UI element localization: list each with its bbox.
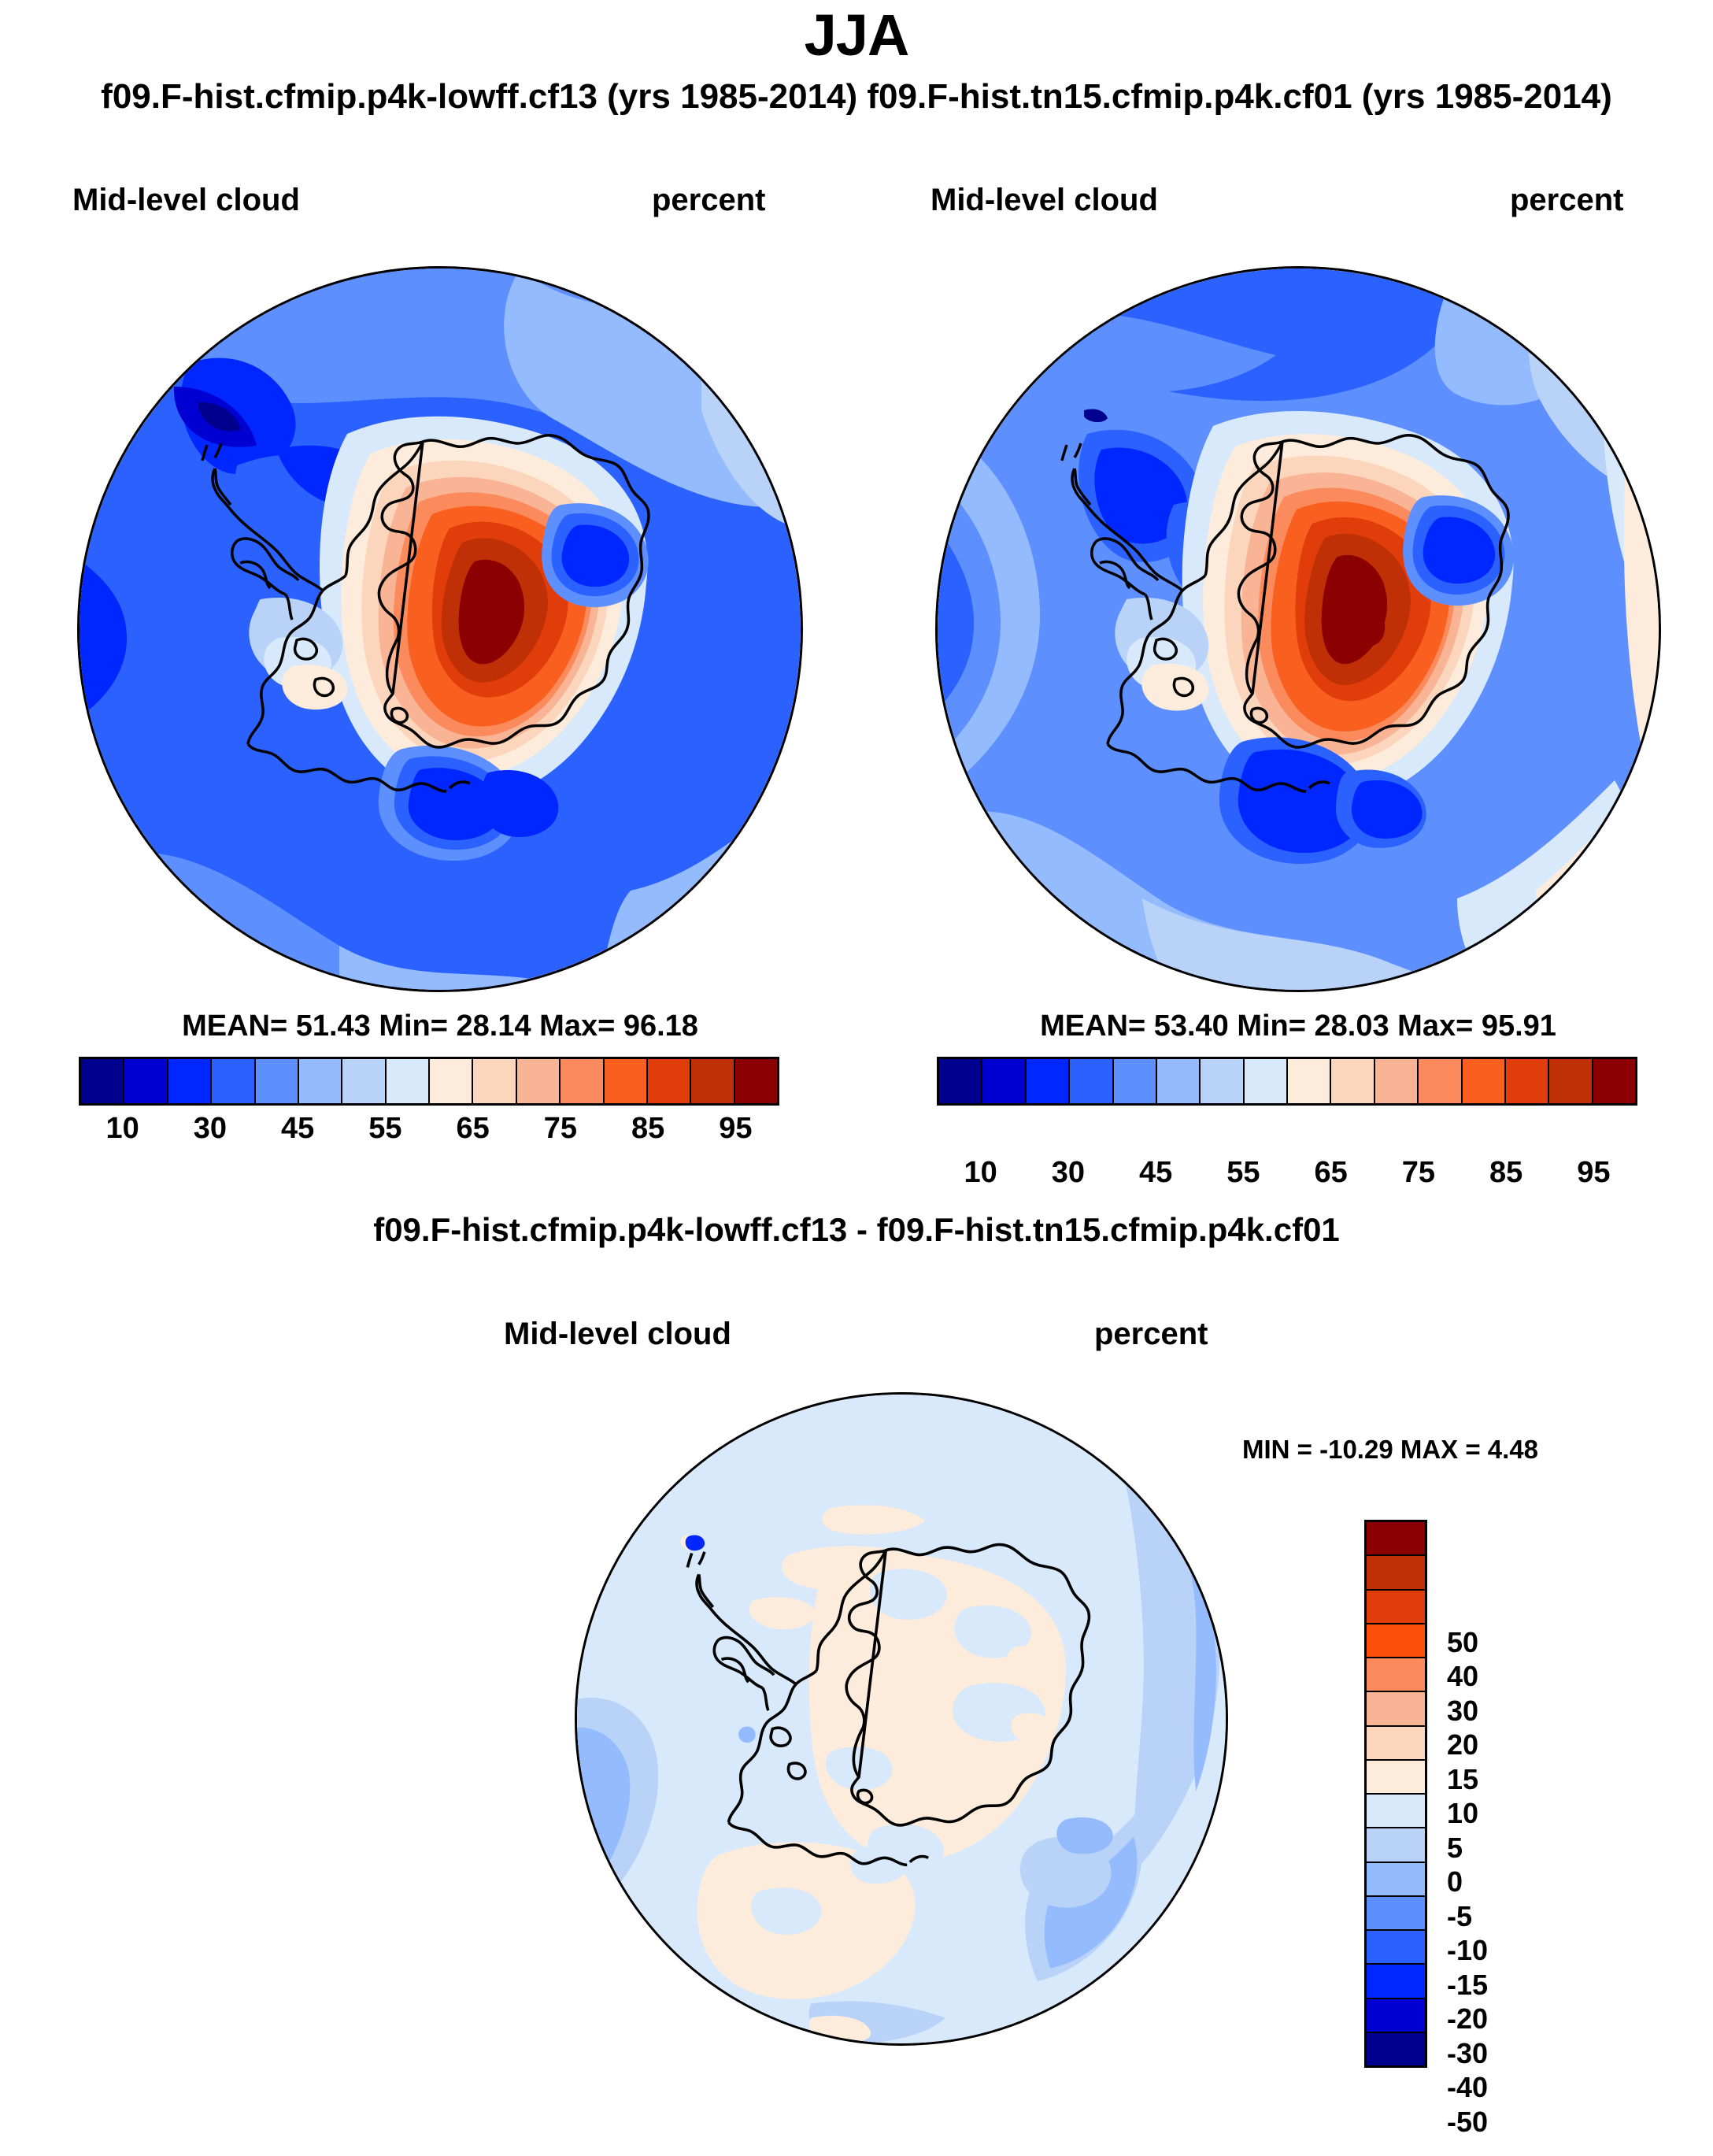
colorbar-tick-label: -5	[1447, 1900, 1472, 1933]
colorbar-cell	[1419, 1059, 1462, 1103]
colorbar-cell	[1506, 1059, 1549, 1103]
colorbar-cell	[1367, 1522, 1425, 1556]
colorbar-tick-label: 65	[1314, 1156, 1347, 1190]
colorbar-cell	[1157, 1059, 1201, 1103]
colorbar-tick-label: 10	[1447, 1797, 1478, 1830]
colorbar-cell	[1463, 1059, 1506, 1103]
colorbar-tick-label: 30	[194, 1112, 227, 1146]
colorbar-cell	[1288, 1059, 1331, 1103]
colorbar-cell	[81, 1059, 124, 1103]
colorbar-cell	[342, 1059, 386, 1103]
colorbar-tick-label: 55	[368, 1112, 401, 1146]
colorbar-cell	[168, 1059, 212, 1103]
colorbar-cell	[1367, 2033, 1425, 2065]
right-panel-stats: MEAN= 53.40 Min= 28.03 Max= 95.91	[935, 1009, 1661, 1043]
colorbar-tick-label: 30	[1447, 1695, 1478, 1728]
colorbar-cell	[1201, 1059, 1244, 1103]
colorbar-cell	[982, 1059, 1026, 1103]
colorbar-tick-label: 20	[1447, 1728, 1478, 1761]
colorbar-tick-label: -10	[1447, 1934, 1488, 1967]
left-panel-stats: MEAN= 51.43 Min= 28.14 Max= 96.18	[77, 1009, 803, 1043]
right-panel-map	[935, 266, 1661, 992]
colorbar-cell	[256, 1059, 299, 1103]
colorbar-tick-label: 30	[1052, 1156, 1085, 1190]
colorbar-cell	[1367, 1727, 1425, 1761]
colorbar-cell	[561, 1059, 604, 1103]
colorbar-cell	[1367, 1761, 1425, 1795]
colorbar-tick-label: 95	[719, 1112, 752, 1146]
colorbar-cell	[1367, 1624, 1425, 1658]
colorbar-tick-label: 75	[544, 1112, 577, 1146]
right-panel-colorbar	[937, 1057, 1637, 1106]
diff-panel-minmax: MIN = -10.29 MAX = 4.48	[1242, 1435, 1538, 1465]
right-panel-colorbar-ticks: 1030455565758595	[937, 1156, 1637, 1200]
colorbar-tick-label: -40	[1447, 2071, 1488, 2104]
colorbar-cell	[1367, 1556, 1425, 1590]
colorbar-tick-label: 15	[1447, 1763, 1478, 1796]
colorbar-tick-label: 95	[1577, 1156, 1610, 1190]
colorbar-tick-label: -20	[1447, 2002, 1488, 2036]
colorbar-tick-label: 5	[1447, 1832, 1463, 1865]
diff-panel-variable-label: Mid-level cloud	[504, 1317, 731, 1352]
colorbar-cell	[1367, 1591, 1425, 1624]
colorbar-cell	[1593, 1059, 1635, 1103]
colorbar-tick-label: 65	[456, 1112, 489, 1146]
colorbar-cell	[1114, 1059, 1157, 1103]
colorbar-cell	[473, 1059, 516, 1103]
left-panel-variable-label: Mid-level cloud	[72, 183, 300, 218]
colorbar-cell	[299, 1059, 342, 1103]
left-panel-units-label: percent	[652, 183, 766, 218]
colorbar-cell	[1367, 1931, 1425, 1965]
colorbar-tick-label: 10	[964, 1156, 997, 1190]
colorbar-cell	[387, 1059, 430, 1103]
diff-panel-map	[575, 1392, 1228, 2046]
colorbar-tick-label: 55	[1226, 1156, 1260, 1190]
colorbar-cell	[1027, 1059, 1070, 1103]
case-titles: f09.F-hist.cfmip.p4k-lowff.cf13 (yrs 198…	[0, 77, 1713, 117]
colorbar-tick-label: 45	[1139, 1156, 1172, 1190]
colorbar-cell	[1549, 1059, 1593, 1103]
colorbar-cell	[1367, 1795, 1425, 1828]
colorbar-tick-label: 10	[105, 1112, 139, 1146]
colorbar-cell	[1367, 1828, 1425, 1862]
colorbar-tick-label: 50	[1447, 1626, 1478, 1659]
colorbar-tick-label: 85	[1489, 1156, 1522, 1190]
colorbar-tick-label: 45	[281, 1112, 314, 1146]
colorbar-cell	[648, 1059, 691, 1103]
right-panel-variable-label: Mid-level cloud	[930, 183, 1158, 218]
colorbar-tick-label: 75	[1402, 1156, 1435, 1190]
colorbar-tick-label: -15	[1447, 1969, 1488, 2002]
colorbar-cell	[1367, 1658, 1425, 1692]
colorbar-cell	[1367, 1863, 1425, 1897]
colorbar-cell	[124, 1059, 168, 1103]
colorbar-cell	[1375, 1059, 1419, 1103]
diff-panel-colorbar-ticks: 50403020151050-5-10-15-20-30-40-50	[1447, 1608, 1573, 2156]
colorbar-tick-label: 85	[631, 1112, 664, 1146]
colorbar-cell	[430, 1059, 473, 1103]
colorbar-cell	[1331, 1059, 1374, 1103]
right-panel-units-label: percent	[1510, 183, 1624, 218]
colorbar-cell	[1245, 1059, 1288, 1103]
colorbar-cell	[1367, 1999, 1425, 2033]
colorbar-cell	[1367, 1965, 1425, 1999]
colorbar-cell	[1367, 1897, 1425, 1931]
colorbar-cell	[735, 1059, 777, 1103]
colorbar-cell	[517, 1059, 561, 1103]
diff-panel-units-label: percent	[1094, 1317, 1208, 1352]
left-panel-colorbar-ticks: 1030455565758595	[79, 1112, 779, 1156]
colorbar-tick-label: -30	[1447, 2037, 1488, 2070]
colorbar-tick-label: 40	[1447, 1660, 1478, 1693]
left-panel-colorbar	[79, 1057, 779, 1106]
colorbar-cell	[1070, 1059, 1113, 1103]
colorbar-tick-label: -50	[1447, 2106, 1488, 2139]
colorbar-cell	[605, 1059, 648, 1103]
left-panel-map	[77, 266, 803, 992]
colorbar-tick-label: 0	[1447, 1865, 1463, 1899]
diff-panel-colorbar	[1364, 1520, 1427, 2068]
colorbar-cell	[939, 1059, 982, 1103]
page-title: JJA	[0, 2, 1713, 69]
colorbar-cell	[212, 1059, 255, 1103]
colorbar-cell	[691, 1059, 734, 1103]
colorbar-cell	[1367, 1692, 1425, 1726]
difference-title: f09.F-hist.cfmip.p4k-lowff.cf13 - f09.F-…	[0, 1211, 1713, 1249]
